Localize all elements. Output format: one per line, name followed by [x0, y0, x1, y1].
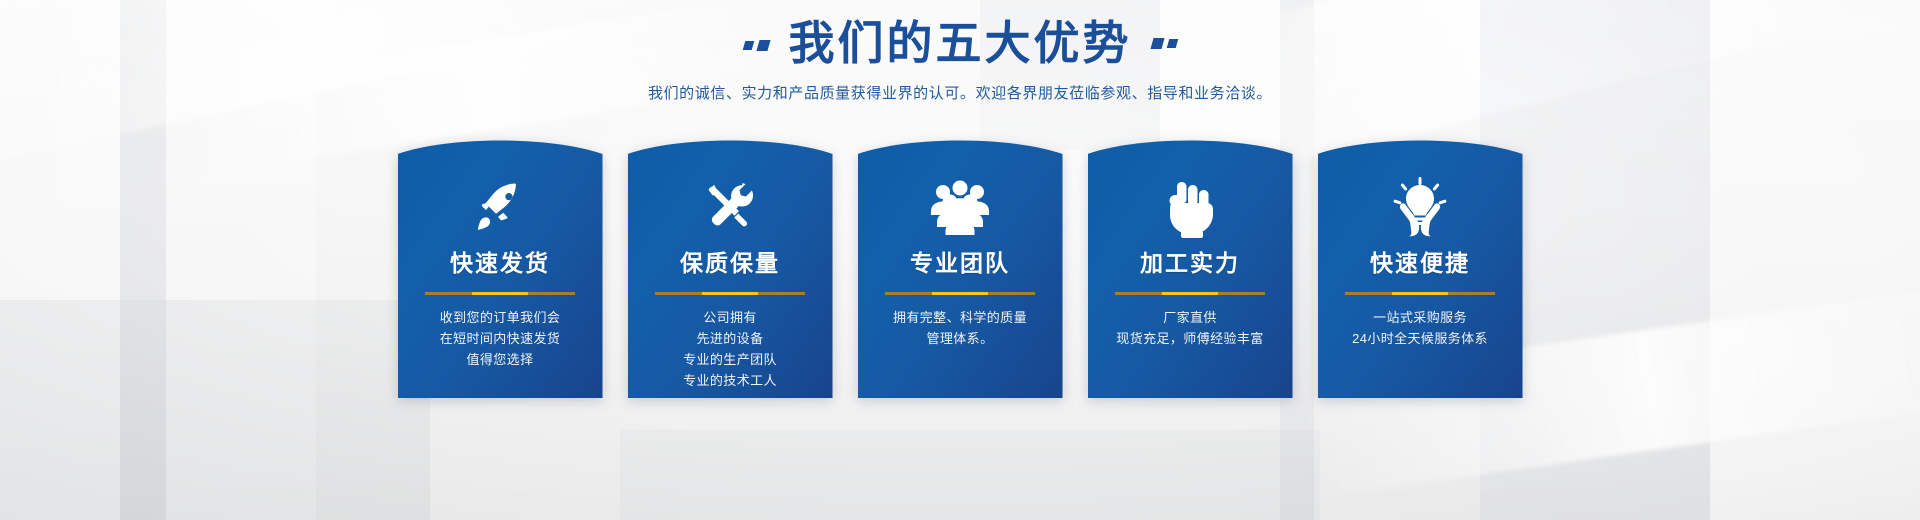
card-divider [1115, 292, 1265, 295]
diamond-accent-icon [744, 40, 769, 51]
card-body-line: 先进的设备 [683, 328, 777, 349]
card-body-line: 24小时全天候服务体系 [1352, 328, 1488, 349]
card-divider [885, 292, 1035, 295]
card-body: 一站式采购服务 24小时全天候服务体系 [1352, 307, 1488, 349]
rocket-icon [468, 170, 532, 244]
advantage-card[interactable]: 保质保量 公司拥有 先进的设备 专业的生产团队 专业的技术工人 [628, 136, 833, 398]
card-body-line: 现货充足，师傅经验丰富 [1116, 328, 1263, 349]
card-divider [655, 292, 805, 295]
card-body: 收到您的订单我们会 在短时间内快速发货 值得您选择 [440, 307, 561, 370]
advantage-card[interactable]: 专业团队 拥有完整、科学的质量 管理体系。 [858, 136, 1063, 398]
advantage-card[interactable]: 加工实力 厂家直供 现货充足，师傅经验丰富 [1088, 136, 1293, 398]
advantage-card[interactable]: 快速便捷 一站式采购服务 24小时全天候服务体系 [1318, 136, 1523, 398]
advantage-card-list: 快速发货 收到您的订单我们会 在短时间内快速发货 值得您选择 [0, 136, 1920, 398]
diamond-accent-icon [1152, 38, 1177, 49]
card-divider [1345, 292, 1495, 295]
fist-icon [1161, 170, 1219, 244]
card-body-line: 在短时间内快速发货 [440, 328, 561, 349]
card-title: 快速发货 [450, 250, 550, 278]
card-body-line: 值得您选择 [440, 349, 561, 370]
advantage-card[interactable]: 快速发货 收到您的订单我们会 在短时间内快速发货 值得您选择 [398, 136, 603, 398]
page-title: 我们的五大优势 [789, 18, 1132, 70]
card-title: 加工实力 [1140, 250, 1240, 278]
wrench-screwdriver-icon [699, 170, 761, 244]
card-body: 拥有完整、科学的质量 管理体系。 [893, 307, 1027, 349]
card-body: 公司拥有 先进的设备 专业的生产团队 专业的技术工人 [683, 307, 777, 391]
card-title: 保质保量 [680, 250, 780, 278]
card-divider [425, 292, 575, 295]
card-body: 厂家直供 现货充足，师傅经验丰富 [1116, 307, 1263, 349]
page-subtitle: 我们的诚信、实力和产品质量获得业界的认可。欢迎各界朋友莅临参观、指导和业务洽谈。 [0, 82, 1920, 103]
hands-lightbulb-icon [1385, 170, 1455, 244]
card-title: 快速便捷 [1370, 250, 1470, 278]
title-row: 我们的五大优势 [0, 18, 1920, 70]
card-body-line: 公司拥有 [683, 307, 777, 328]
team-people-icon [925, 170, 995, 244]
card-body-line: 管理体系。 [893, 328, 1027, 349]
card-body-line: 一站式采购服务 [1352, 307, 1488, 328]
card-body-line: 专业的生产团队 [683, 349, 777, 370]
card-title: 专业团队 [910, 250, 1010, 278]
card-body-line: 专业的技术工人 [683, 370, 777, 391]
card-body-line: 厂家直供 [1116, 307, 1263, 328]
card-body-line: 拥有完整、科学的质量 [893, 307, 1027, 328]
section-header: 我们的五大优势 我们的诚信、实力和产品质量获得业界的认可。欢迎各界朋友莅临参观、… [0, 18, 1920, 103]
advantages-banner: 我们的五大优势 我们的诚信、实力和产品质量获得业界的认可。欢迎各界朋友莅临参观、… [0, 0, 1920, 520]
card-body-line: 收到您的订单我们会 [440, 307, 561, 328]
